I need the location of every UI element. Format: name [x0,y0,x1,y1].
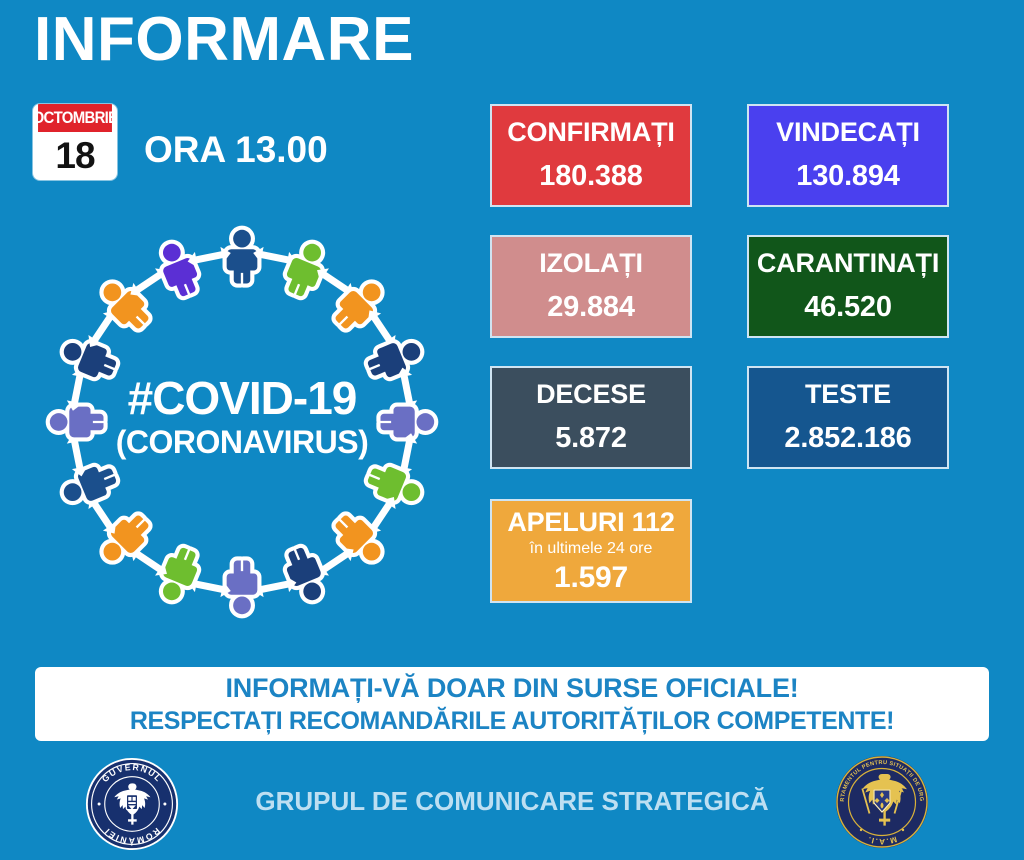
person-icon [154,544,203,605]
person-icon [281,544,330,605]
stat-box-decese: DECESE 5.872 [490,366,692,469]
banner-line-1: INFORMAȚI-VĂ DOAR DIN SURSE OFICIALE! [225,673,798,704]
calendar-day-label: 18 [33,132,117,180]
person-icon [227,230,258,284]
stat-box-teste: TESTE 2.852.186 [747,366,949,469]
person-icon [381,407,435,438]
person-icon [364,334,425,383]
stat-label: DECESE [536,380,646,410]
stat-value: 180.388 [539,161,642,193]
stat-box-izolati: IZOLAȚI 29.884 [490,235,692,338]
social-distancing-circle-icon: #ring > g > use { } .body-fill { fill: i… [32,222,452,622]
person-icon [364,461,425,510]
stat-note: în ultimele 24 ore [530,540,653,558]
official-sources-banner: INFORMAȚI-VĂ DOAR DIN SURSE OFICIALE! RE… [35,667,989,741]
stat-box-confirmati: CONFIRMAȚI 180.388 [490,104,692,207]
stat-label: TESTE [805,380,891,410]
stat-box-vindecati: VINDECAȚI 130.894 [747,104,949,207]
hour-label: ORA 13.00 [144,129,328,171]
calendar-icon: OCTOMBRIE 18 [33,104,117,180]
page-title: INFORMARE [34,6,414,74]
stat-label: CARANTINAȚI [757,249,939,279]
banner-line-2: RESPECTAȚI RECOMANDĂRILE AUTORITĂȚILOR C… [130,707,894,736]
stat-value: 2.852.186 [784,423,911,455]
stat-box-carantinati: CARANTINAȚI 46.520 [747,235,949,338]
stat-label: CONFIRMAȚI [507,118,674,148]
infographic-page: INFORMARE OCTOMBRIE 18 ORA 13.00 [0,0,1024,860]
calendar-month-label: OCTOMBRIE [38,104,112,132]
dsu-mai-seal-icon: DEPARTAMENTUL PENTRU SITUAȚII DE URGENȚĂ… [832,752,932,852]
person-icon [154,239,203,300]
stat-value: 1.597 [554,561,628,594]
stat-value: 130.894 [796,161,899,193]
person-icon [59,334,120,383]
stat-label: IZOLAȚI [539,249,643,279]
person-icon [59,461,120,510]
stat-box-apeluri: APELURI 112 în ultimele 24 ore 1.597 [490,499,692,603]
person-icon [227,561,258,615]
person-icon [281,239,330,300]
stat-label: APELURI 112 [507,508,674,538]
stat-value: 46.520 [804,292,892,324]
stat-value: 29.884 [547,292,635,324]
person-icon [50,407,104,438]
stat-label: VINDECAȚI [776,118,920,148]
stat-value: 5.872 [555,423,627,455]
